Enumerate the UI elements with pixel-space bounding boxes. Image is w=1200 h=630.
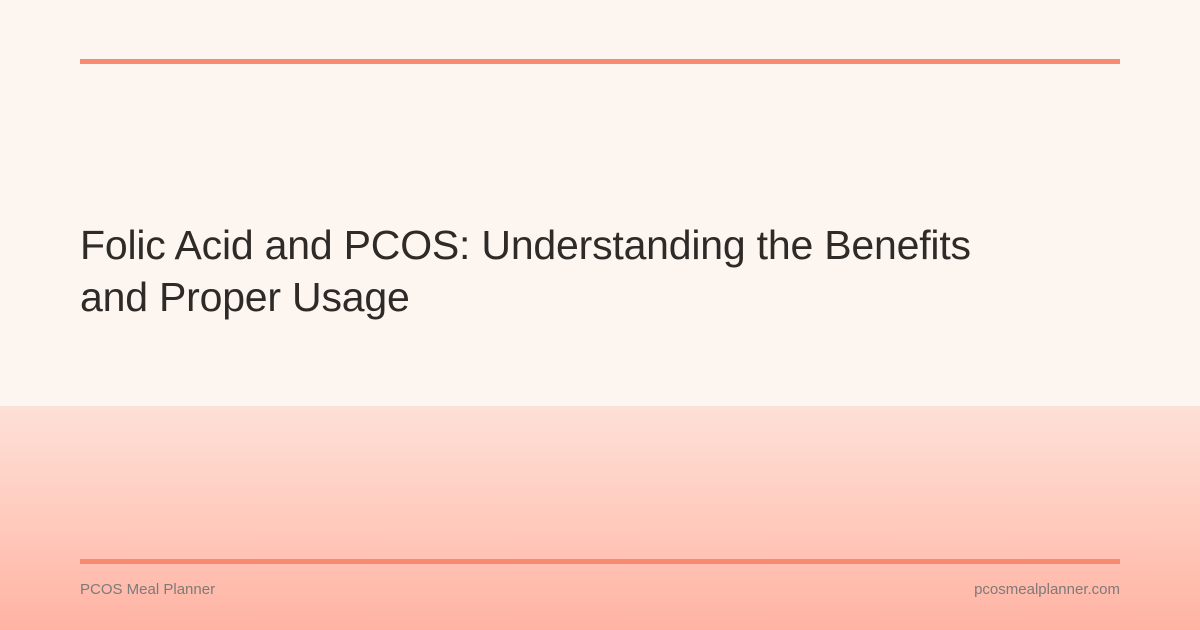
footer: PCOS Meal Planner pcosmealplanner.com [80,578,1120,602]
top-accent-rule [80,59,1120,64]
footer-brand-name: PCOS Meal Planner [80,578,215,602]
footer-website-url: pcosmealplanner.com [974,578,1120,602]
bottom-accent-rule [80,559,1120,564]
page-title: Folic Acid and PCOS: Understanding the B… [80,219,1110,323]
social-share-card: Folic Acid and PCOS: Understanding the B… [0,0,1200,630]
